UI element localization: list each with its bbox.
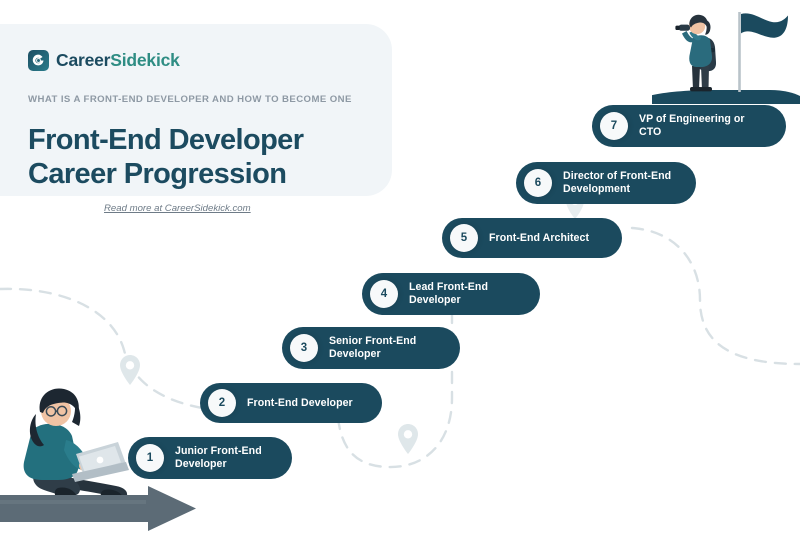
step-number-badge: 6 [524, 169, 552, 197]
logo-word-career: Career [56, 50, 110, 70]
step-number-badge: 7 [600, 112, 628, 140]
step-label: Front-End Developer [236, 397, 367, 410]
flag-banner [741, 13, 788, 37]
step-label: Senior Front-End Developer [318, 335, 430, 361]
hiker-with-binoculars-and-flag-illustration [652, 0, 800, 104]
logo-wordmark: CareerSidekick [56, 50, 180, 71]
step-item-5[interactable]: 5 Front-End Architect [442, 218, 622, 258]
step-item-6[interactable]: 6 Director of Front-End Development [516, 162, 696, 204]
leg-back [692, 66, 700, 90]
rightward-ground-arrow-icon [0, 486, 210, 533]
read-more-link[interactable]: Read more at CareerSidekick.com [104, 203, 251, 214]
step-item-4[interactable]: 4 Lead Front-End Developer [362, 273, 540, 315]
step-number-badge: 3 [290, 334, 318, 362]
laptop-icon [72, 442, 129, 482]
shoe-front [700, 87, 712, 91]
leg-front [701, 66, 709, 90]
flag-pole [738, 12, 741, 92]
binoculars-icon [675, 25, 690, 31]
step-label: VP of Engineering or CTO [628, 113, 759, 139]
logo-word-sidekick: Sidekick [110, 50, 179, 70]
step-number-badge: 2 [208, 389, 236, 417]
dashed-path-icon [632, 228, 800, 364]
career-sidekick-c-logo-icon [28, 50, 49, 71]
map-pin-icon [398, 424, 418, 454]
step-label: Director of Front-End Development [552, 170, 685, 196]
page-title: Front-End Developer Career Progression [28, 124, 303, 192]
step-number-badge: 5 [450, 224, 478, 252]
infographic-canvas: CareerSidekick WHAT IS A FRONT-END DEVEL… [0, 0, 800, 533]
step-item-3[interactable]: 3 Senior Front-End Developer [282, 327, 460, 369]
step-label: Front-End Architect [478, 232, 603, 245]
header-card: CareerSidekick WHAT IS A FRONT-END DEVEL… [0, 24, 392, 196]
step-number-badge: 4 [370, 280, 398, 308]
summit-ledge [652, 90, 800, 104]
step-item-2[interactable]: 2 Front-End Developer [200, 383, 382, 423]
step-label: Lead Front-End Developer [398, 281, 502, 307]
brand-logo[interactable]: CareerSidekick [28, 50, 180, 71]
step-item-7[interactable]: 7 VP of Engineering or CTO [592, 105, 786, 147]
header-subtitle: WHAT IS A FRONT-END DEVELOPER AND HOW TO… [28, 94, 352, 105]
